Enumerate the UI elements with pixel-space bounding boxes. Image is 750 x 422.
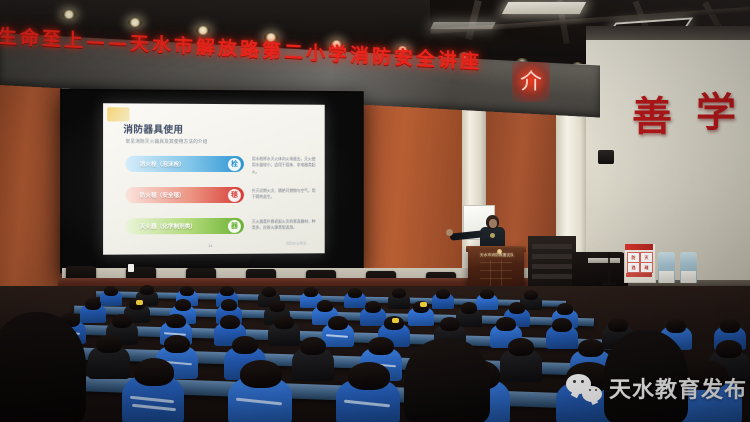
rack-slot xyxy=(532,264,572,269)
student-hair xyxy=(480,289,494,299)
slide-decor-corner xyxy=(107,107,129,121)
student-hair xyxy=(220,286,234,296)
student-hair xyxy=(440,317,460,331)
student-hair xyxy=(262,287,276,297)
slide-subtitle: 常见消防灭火器具及其使用方法的介绍 xyxy=(125,139,207,145)
student-hair xyxy=(304,287,318,297)
student-hair xyxy=(524,290,538,300)
poster-cell-label: 灭 xyxy=(641,253,652,262)
watermark: 天水教育发布 xyxy=(566,372,747,404)
wechat-bubble-small xyxy=(582,386,602,402)
ceiling-panel-light xyxy=(502,2,586,14)
student-hair xyxy=(112,314,132,328)
slide-row-label: 防火毯（安全毯） xyxy=(140,191,185,199)
presenter-badge-icon xyxy=(490,233,495,238)
student-hair xyxy=(221,299,237,311)
student-hair xyxy=(317,300,333,312)
student-hair xyxy=(666,319,686,333)
student-hair xyxy=(392,288,406,298)
slide-row-desc: 扑灭初期火灾、隔绝可燃物与空气，用于隔热逃生。 xyxy=(252,188,317,200)
student-hair xyxy=(328,316,348,330)
hair-bow xyxy=(136,300,143,305)
poster-cell: 逃 xyxy=(627,262,640,273)
calligraphy-char-2: 学 xyxy=(696,80,736,138)
student-hair xyxy=(578,339,604,357)
hair-bow xyxy=(392,318,399,323)
student-hair xyxy=(140,285,154,295)
wall-speaker-icon xyxy=(598,150,614,164)
slide-title: 消防器具使用 xyxy=(123,122,183,136)
banner-logo-glyph: 介 xyxy=(512,62,550,102)
water-dispenser xyxy=(658,252,675,283)
presenter-face xyxy=(489,219,497,228)
projection-screen: 消防器具使用 常见消防灭火器具及其使用方法的介绍 消火栓（泡沫栓） 栓 用水枪将… xyxy=(60,89,364,274)
student-hair xyxy=(365,301,381,313)
watermark-text: 天水教育发布 xyxy=(609,372,747,404)
water-cup xyxy=(128,264,134,272)
slide-row-label: 消火栓（泡沫栓） xyxy=(140,159,185,167)
student-hair xyxy=(716,340,742,358)
podium-grid-line xyxy=(480,262,512,263)
student-hair xyxy=(461,302,477,314)
ceiling-spotlight xyxy=(62,10,76,19)
student-hair xyxy=(348,362,390,390)
poster-footer-bar xyxy=(626,273,652,277)
student-hair xyxy=(240,360,282,388)
student-hair xyxy=(164,335,190,353)
rack-slot xyxy=(532,254,572,259)
poster-cell-label: 防 xyxy=(628,253,639,262)
student-hair xyxy=(436,289,450,299)
student-hair xyxy=(552,318,572,332)
wechat-dot xyxy=(589,389,591,391)
hair-bow xyxy=(420,302,427,307)
student-hair xyxy=(175,299,191,311)
foreground-head xyxy=(0,312,86,422)
student-hair xyxy=(134,358,174,386)
slide-row-extinguisher: 灭火器（化学制剂类） 器 xyxy=(125,218,243,235)
student-hair xyxy=(85,298,101,310)
student-hair xyxy=(508,338,534,356)
student-hair xyxy=(368,337,394,355)
rack-slot xyxy=(532,244,572,249)
poster-cell-label: 逃 xyxy=(628,263,639,272)
student-hair xyxy=(608,318,628,332)
wechat-icon xyxy=(566,374,602,402)
slide-row-badge: 器 xyxy=(228,219,241,232)
student-hair xyxy=(348,288,362,298)
student-hair xyxy=(274,315,294,329)
student-hair xyxy=(104,286,118,296)
ceiling-panel-light xyxy=(430,22,495,29)
microphone-stand xyxy=(608,252,610,284)
student-hair xyxy=(96,335,122,353)
slide-row-hydrant: 消火栓（泡沫栓） 栓 xyxy=(125,156,243,172)
poster-cell-label: 疏 xyxy=(641,263,652,272)
slide-row-blanket: 防火毯（安全毯） 毯 xyxy=(125,187,243,203)
student-hair xyxy=(300,337,326,355)
foreground-head xyxy=(404,338,490,422)
student-hair xyxy=(269,300,285,312)
slide-row-label: 灭火器（化学制剂类） xyxy=(140,222,196,230)
slide-row-badge: 毯 xyxy=(228,188,241,201)
student-hair xyxy=(166,314,186,328)
podium-organization-text: 天水市消防救援支队 xyxy=(474,253,520,258)
wechat-dot xyxy=(573,380,576,383)
student-hair xyxy=(557,303,573,315)
student-hair xyxy=(720,319,740,333)
poster-cell: 疏 xyxy=(640,262,653,273)
presentation-slide: 消防器具使用 常见消防灭火器具及其使用方法的介绍 消火栓（泡沫栓） 栓 用水枪将… xyxy=(103,103,325,255)
student-hair xyxy=(509,302,525,314)
calligraphy-char-1: 善 xyxy=(632,84,672,142)
photo-scene: 善 学 生命至上——天水市解放路第二小学消防安全讲座 介 消防器具使用 常见消防… xyxy=(0,0,750,422)
wechat-dot xyxy=(581,380,584,383)
student-hair xyxy=(232,336,258,354)
ceiling-spotlight xyxy=(128,18,142,27)
water-dispenser xyxy=(680,252,697,283)
student-hair xyxy=(220,315,240,329)
microphone-base xyxy=(602,282,616,285)
slide-brand-label: 消防安全教育 xyxy=(285,241,306,246)
rack-slot xyxy=(532,274,572,279)
wechat-dot xyxy=(595,389,597,391)
slide-row-desc: 用水枪将水灭火体向火场放出，灭火使用水量较小；适用于固体、非电器类起火。 xyxy=(252,156,317,175)
av-equipment-rack xyxy=(528,236,576,288)
piano-keys xyxy=(588,258,620,263)
podium-grid-line xyxy=(480,278,512,279)
slide-row-desc: 灭火器是扑救初起火灾的首选器材，种类多，应按火源类型选用。 xyxy=(252,219,317,232)
wall-calligraphy: 善 学 xyxy=(620,62,750,172)
slide-page-number: 14 xyxy=(208,243,212,248)
poster-title-bar xyxy=(625,244,653,250)
slide-row-badge: 栓 xyxy=(228,158,241,171)
presenter-hand xyxy=(446,229,453,236)
student-hair xyxy=(180,286,194,296)
student-hair xyxy=(496,317,516,331)
podium-grid-line xyxy=(480,270,512,271)
